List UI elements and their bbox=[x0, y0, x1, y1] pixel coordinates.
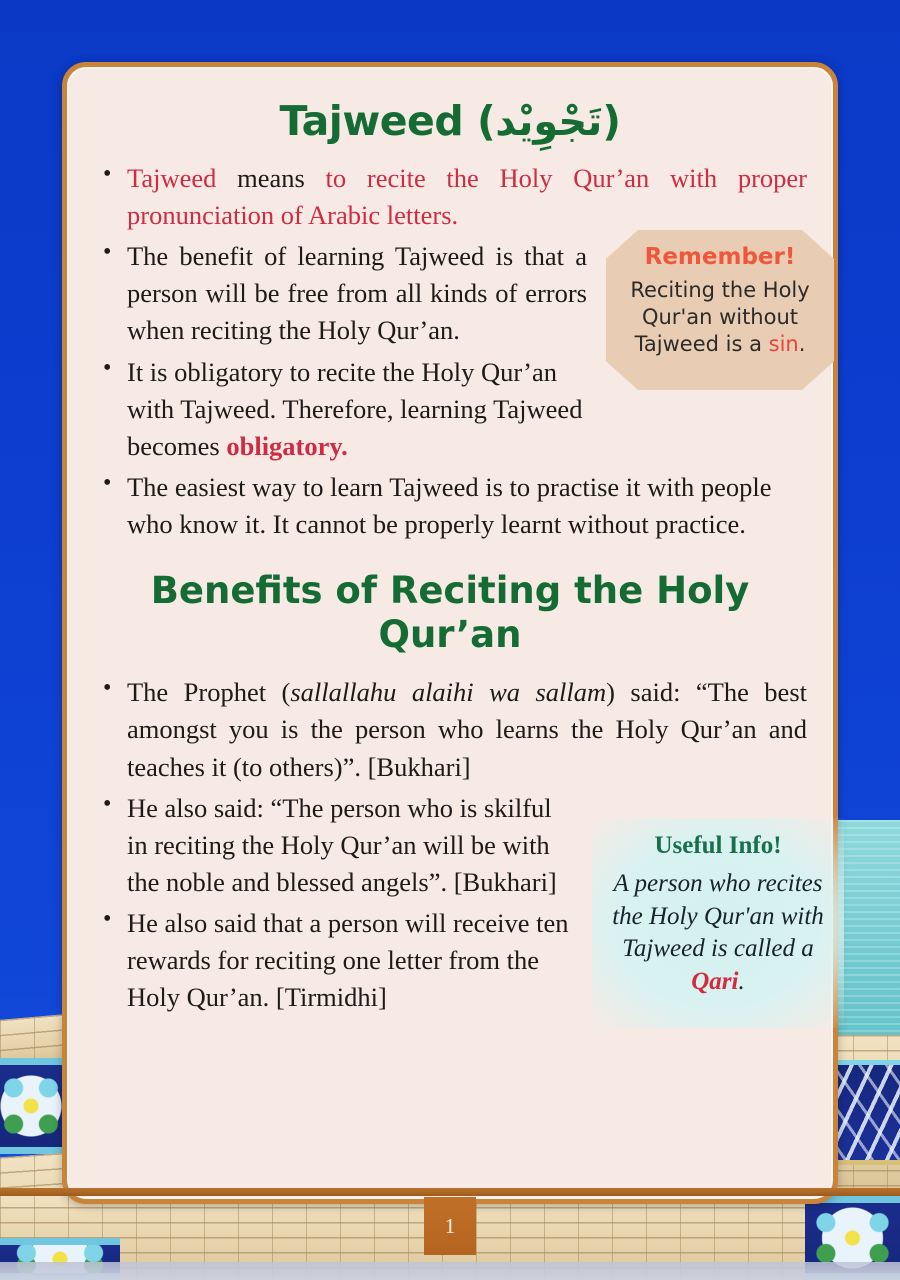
bullet-5-part-2: sallallahu alaihi wa sallam bbox=[290, 677, 606, 707]
callout-useful-body-before: A person who recites the Holy Qur'an wit… bbox=[612, 870, 824, 962]
page-number-badge: 1 bbox=[424, 1197, 476, 1255]
bullet-4-text: The easiest way to learn Tajweed is to p… bbox=[127, 472, 772, 539]
bullet-5-part-1: The Prophet ( bbox=[127, 677, 290, 707]
callout-useful-info: Useful Info! A person who recites the Ho… bbox=[592, 818, 844, 1028]
list-item: The Prophet (sallallahu alaihi wa sallam… bbox=[93, 674, 807, 785]
floor-shadow bbox=[0, 1262, 900, 1280]
bullet-6-text: He also said: “The person who is skilful… bbox=[127, 793, 557, 897]
bullet-3-part-1: It is obligatory to recite the Holy Qur’… bbox=[127, 357, 582, 461]
callout-useful-highlight: Qari bbox=[691, 968, 738, 995]
section-heading: Benefits of Reciting the Holy Qur’an bbox=[93, 569, 807, 656]
wall-ledge bbox=[0, 1188, 900, 1196]
callout-useful-body-after: . bbox=[738, 968, 744, 995]
page-title: Tajweed (تَجْوِيْد) bbox=[93, 99, 807, 144]
callout-remember-title: Remember! bbox=[614, 244, 826, 270]
page-root: Tajweed (تَجْوِيْد) Tajweed means to rec… bbox=[0, 0, 900, 1280]
bullet-3-part-2: obligatory. bbox=[226, 431, 347, 461]
page-title-english: Tajweed ( bbox=[279, 97, 495, 145]
bullet-7-text: He also said that a person will receive … bbox=[127, 908, 569, 1012]
list-item: The easiest way to learn Tajweed is to p… bbox=[93, 469, 807, 543]
callout-remember-highlight: sin bbox=[769, 332, 799, 356]
bullet-2-text: The benefit of learning Tajweed is that … bbox=[127, 241, 587, 345]
bullet-1-part-1: Tajweed bbox=[127, 163, 237, 193]
callout-remember-body-after: . bbox=[799, 332, 806, 356]
bullet-1-part-2: means bbox=[237, 163, 325, 193]
callout-remember-body: Reciting the Holy Qur'an without Tajweed… bbox=[614, 277, 826, 358]
page-title-close-paren: ) bbox=[602, 97, 620, 145]
callout-useful-body: A person who recites the Holy Qur'an wit… bbox=[602, 868, 834, 998]
page-title-arabic: تَجْوِيْد bbox=[495, 99, 602, 145]
islamic-tile-panel-left bbox=[0, 1058, 62, 1154]
callout-remember: Remember! Reciting the Holy Qur'an witho… bbox=[606, 230, 834, 390]
callout-useful-title: Useful Info! bbox=[602, 832, 834, 860]
list-item: Tajweed means to recite the Holy Qur’an … bbox=[93, 160, 807, 234]
